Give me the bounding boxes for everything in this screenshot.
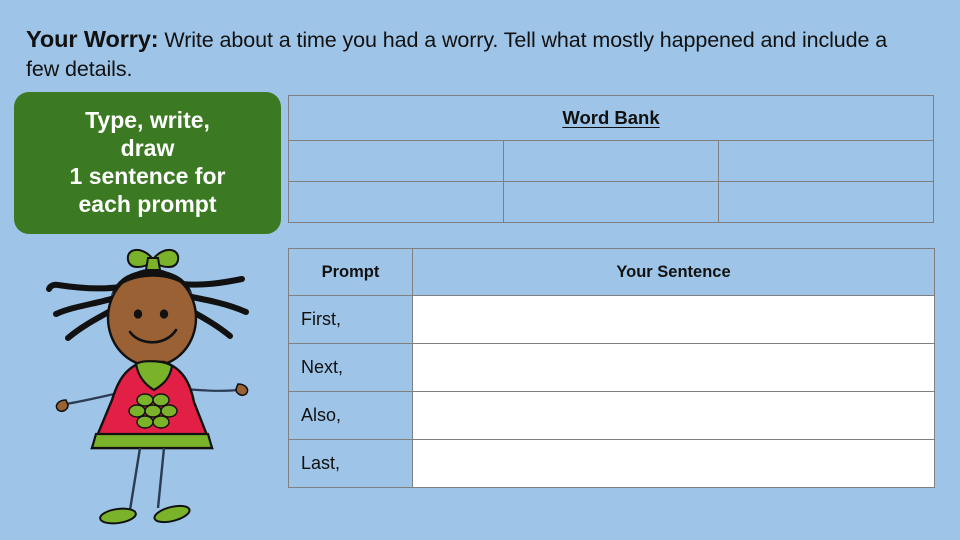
instruction-line-3: 1 sentence for (70, 162, 226, 190)
shoe-left (99, 507, 137, 526)
word-bank-table: Word Bank (288, 95, 934, 223)
eye-right (160, 309, 168, 318)
eye-left (134, 309, 142, 318)
instruction-callout: Type, write, draw 1 sentence for each pr… (14, 92, 281, 234)
word-bank-title: Word Bank (562, 107, 659, 128)
table-row: Also, (289, 392, 935, 440)
table-row: First, (289, 296, 935, 344)
word-bank-cell[interactable] (719, 141, 934, 182)
hand-right (236, 384, 248, 395)
column-header-prompt: Prompt (289, 249, 413, 296)
prompt-label-also: Also, (289, 392, 413, 440)
table-header-row: Prompt Your Sentence (289, 249, 935, 296)
sentence-input-next[interactable] (413, 344, 935, 392)
prompt-label-next: Next, (289, 344, 413, 392)
hand-left (56, 400, 68, 411)
smiling-girl-illustration (30, 242, 280, 540)
column-header-your-sentence: Your Sentence (413, 249, 935, 296)
word-bank-cell[interactable] (504, 141, 719, 182)
prompt-label-last: Last, (289, 440, 413, 488)
hair-bow (128, 250, 178, 270)
word-bank-row (289, 182, 934, 223)
page-title-lead: Your Worry: (26, 26, 159, 52)
sentence-input-also[interactable] (413, 392, 935, 440)
instruction-line-1: Type, write, (85, 106, 210, 134)
prompt-label-first: First, (289, 296, 413, 344)
leg-right (158, 448, 164, 508)
instruction-line-2: draw (121, 134, 175, 162)
dress-hem (92, 434, 212, 448)
table-row: Last, (289, 440, 935, 488)
word-bank-cell[interactable] (504, 182, 719, 223)
sentence-input-last[interactable] (413, 440, 935, 488)
word-bank-row (289, 141, 934, 182)
leg-left (130, 448, 140, 510)
page-title: Your Worry: Write about a time you had a… (26, 24, 906, 84)
word-bank-cell[interactable] (719, 182, 934, 223)
word-bank-cell[interactable] (289, 141, 504, 182)
instruction-line-4: each prompt (78, 190, 216, 218)
word-bank-title-cell: Word Bank (289, 96, 934, 141)
table-row: Next, (289, 344, 935, 392)
prompt-sentence-table: Prompt Your Sentence First, Next, Also, … (288, 248, 935, 488)
word-bank-cell[interactable] (289, 182, 504, 223)
word-bank-title-row: Word Bank (289, 96, 934, 141)
sentence-input-first[interactable] (413, 296, 935, 344)
